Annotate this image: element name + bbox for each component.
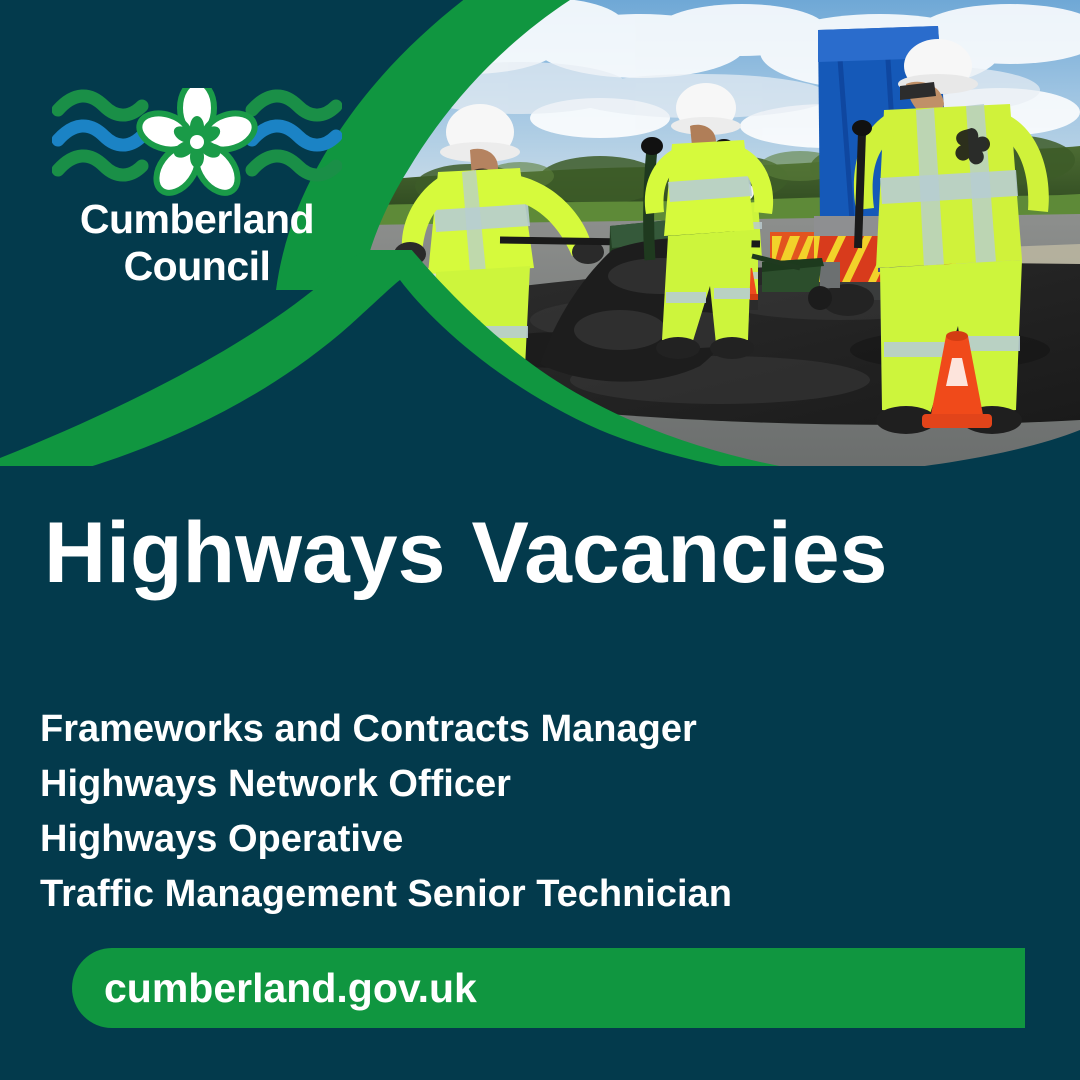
list-item: Highways Operative [40,812,940,867]
photo-bottom-mask [0,466,1080,486]
website-url-text: cumberland.gov.uk [104,965,477,1012]
website-url-banner[interactable]: cumberland.gov.uk [72,948,1025,1028]
headline-word-vacancies: Vacancies [471,505,887,601]
headline-word-highways: Highways [44,505,445,601]
cumberland-flower-waves-logo-icon [52,88,342,198]
page-title: HighwaysVacancies [44,505,887,601]
highways-vacancies-poster: Cumberland Council HighwaysVacancies Fra… [0,0,1080,1080]
cumberland-council-logo: Cumberland Council [52,88,342,293]
logo-wordmark: Cumberland Council [52,196,342,290]
list-item: Highways Network Officer [40,757,940,812]
list-item: Frameworks and Contracts Manager [40,702,940,757]
logo-line-1: Cumberland [52,196,342,243]
vacancy-list: Frameworks and Contracts Manager Highway… [40,702,940,922]
list-item: Traffic Management Senior Technician [40,867,940,922]
logo-line-2: Council [52,243,342,290]
